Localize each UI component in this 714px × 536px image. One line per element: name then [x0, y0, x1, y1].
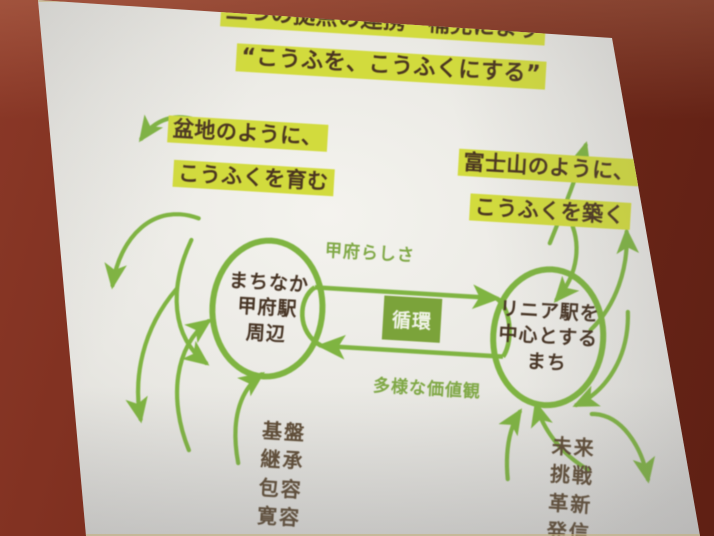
cycle-badge: 循環	[382, 295, 443, 342]
right-keyword-column: 未来 挑戦 革新 発信	[530, 431, 613, 536]
slide-content: 二つの拠点の連携・補完により “こうふを、こうふくにする” 盆地のように、 こう…	[0, 0, 714, 536]
left-keyword-column: 基盤 継承 包容 寛容	[240, 416, 323, 534]
photo-slide-scene: 二つの拠点の連携・補完により “こうふを、こうふくにする” 盆地のように、 こう…	[0, 0, 714, 536]
arrow-label-top: 甲府らしさ	[324, 236, 415, 266]
projection-screen: 二つの拠点の連携・補完により “こうふを、こうふくにする” 盆地のように、 こう…	[0, 0, 714, 536]
